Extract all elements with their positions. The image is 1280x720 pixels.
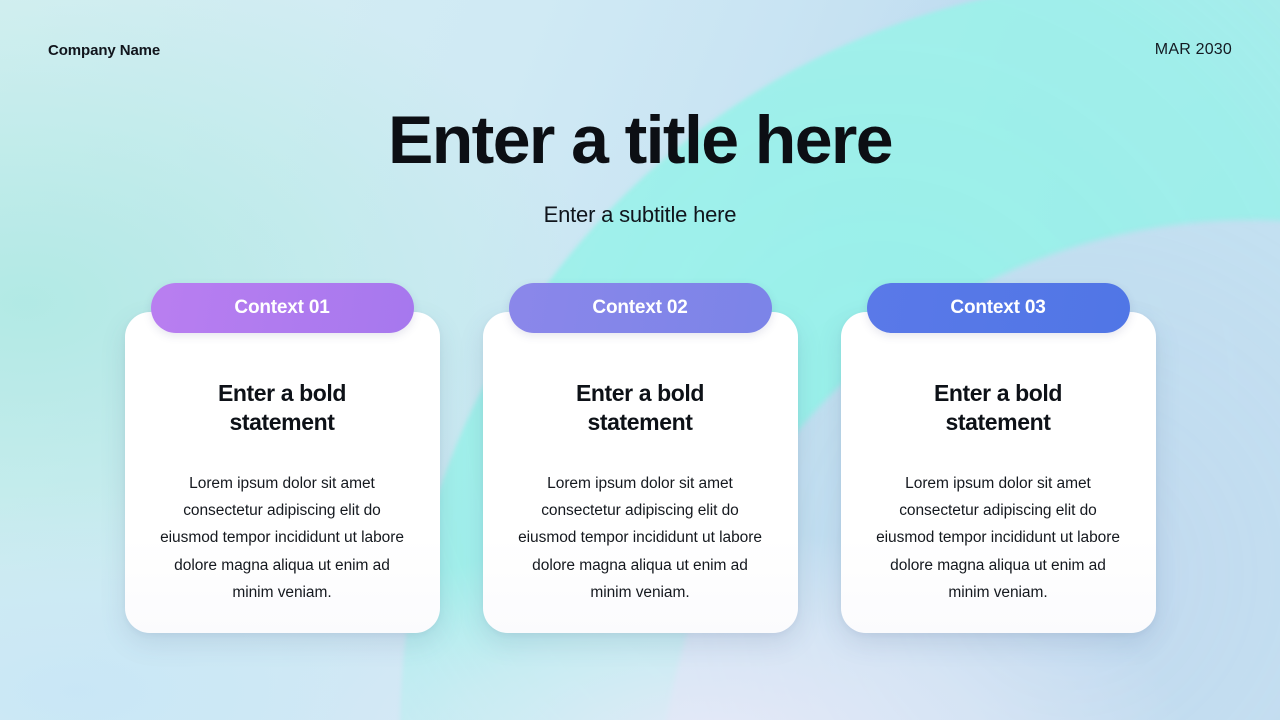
company-name-label: Company Name xyxy=(48,42,160,59)
context-card-1-pill[interactable]: Context 01 xyxy=(151,283,414,333)
context-card-2-pill-label: Context 02 xyxy=(592,297,687,319)
context-card-1-body: Enter a bold statement Lorem ipsum dolor… xyxy=(125,312,440,633)
context-card-2-pill[interactable]: Context 02 xyxy=(509,283,772,333)
context-card-3-text: Lorem ipsum dolor sit amet consectetur a… xyxy=(874,438,1122,606)
page-title: Enter a title here xyxy=(0,106,1280,174)
context-card-3-pill-label: Context 03 xyxy=(950,297,1045,319)
context-card-3-pill[interactable]: Context 03 xyxy=(867,283,1130,333)
context-cards-row: Context 01 Enter a bold statement Lorem … xyxy=(0,283,1280,633)
slide-header: Company Name MAR 2030 xyxy=(0,0,1280,100)
page-subtitle: Enter a subtitle here xyxy=(0,174,1280,228)
context-card-2-text: Lorem ipsum dolor sit amet consectetur a… xyxy=(516,438,764,606)
context-card-1[interactable]: Context 01 Enter a bold statement Lorem … xyxy=(125,283,440,633)
date-label: MAR 2030 xyxy=(1155,41,1232,59)
context-card-2-body: Enter a bold statement Lorem ipsum dolor… xyxy=(483,312,798,633)
context-card-2[interactable]: Context 02 Enter a bold statement Lorem … xyxy=(483,283,798,633)
context-card-3[interactable]: Context 03 Enter a bold statement Lorem … xyxy=(841,283,1156,633)
slide-canvas: Company Name MAR 2030 Enter a title here… xyxy=(0,0,1280,720)
title-block: Enter a title here Enter a subtitle here xyxy=(0,106,1280,228)
context-card-1-pill-label: Context 01 xyxy=(234,297,329,319)
context-card-3-body: Enter a bold statement Lorem ipsum dolor… xyxy=(841,312,1156,633)
context-card-1-text: Lorem ipsum dolor sit amet consectetur a… xyxy=(158,438,406,606)
